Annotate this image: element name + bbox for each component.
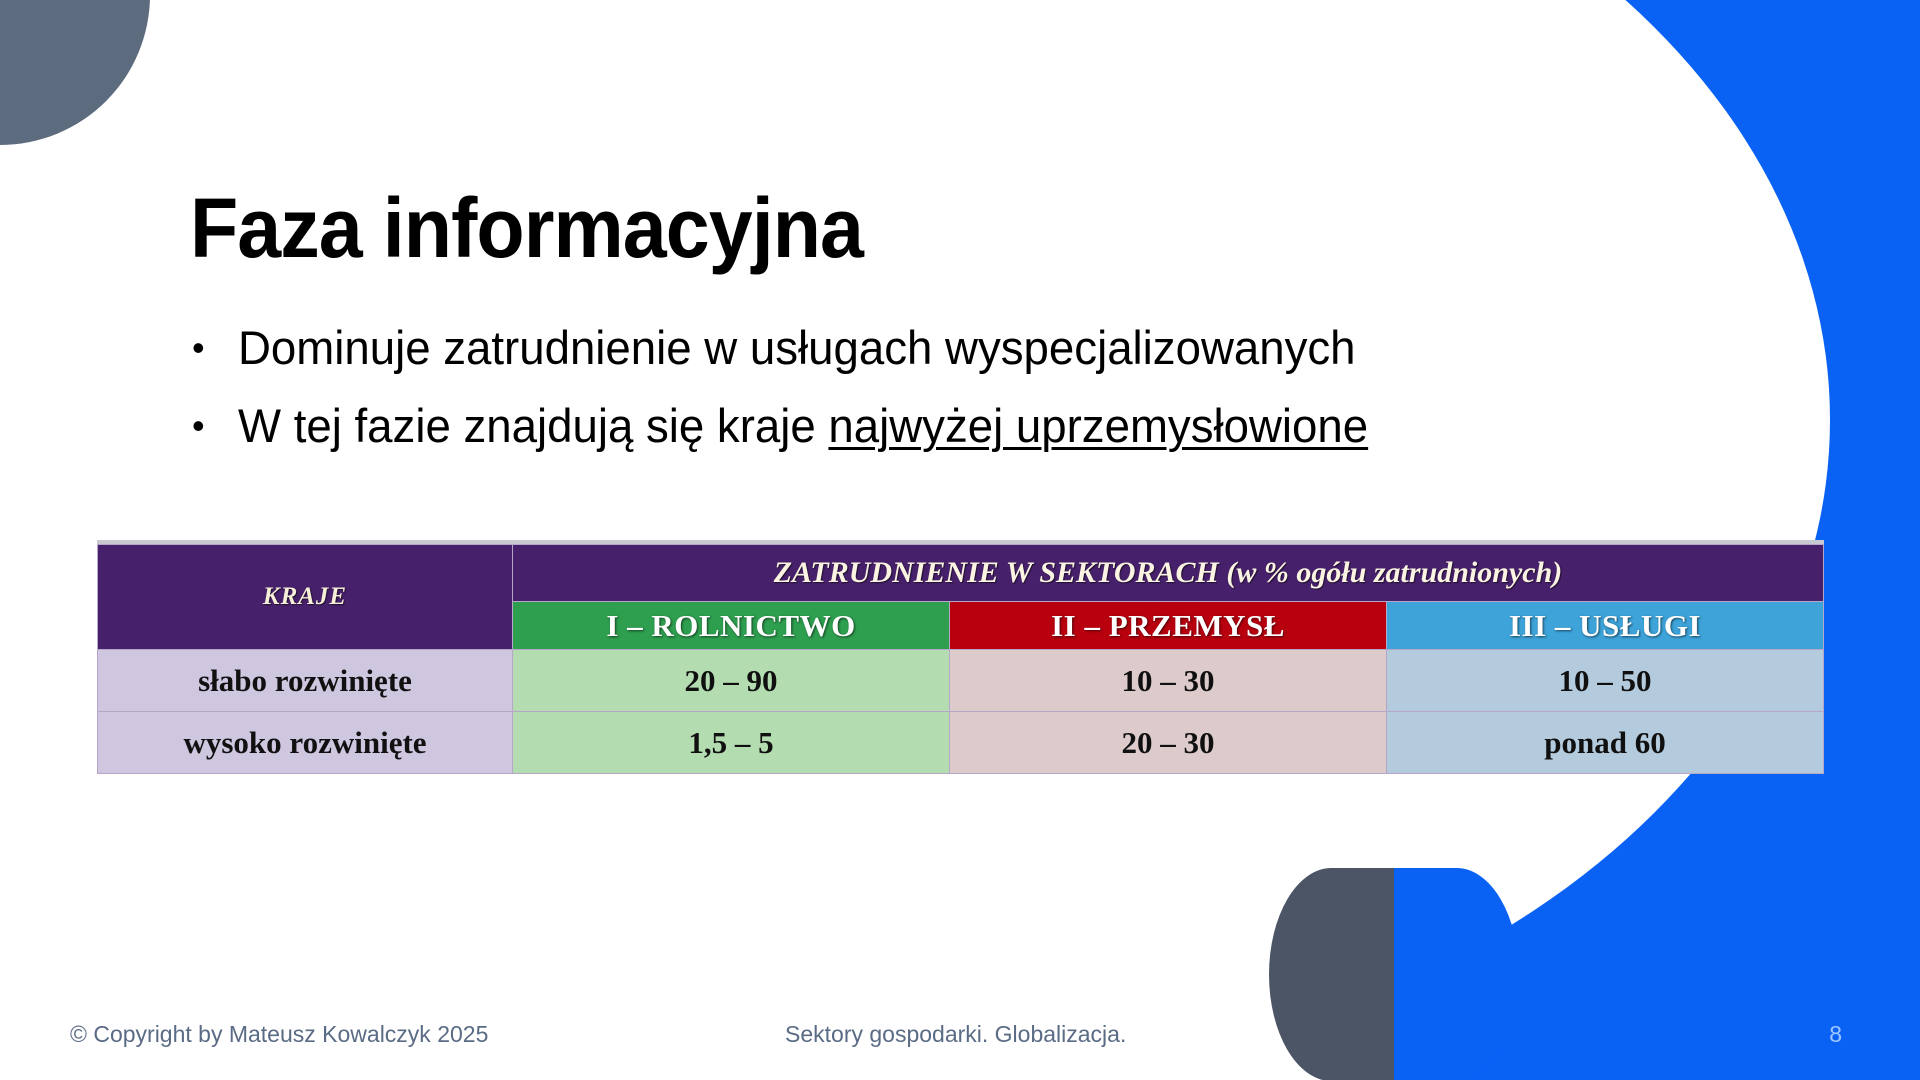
gray-corner-circle-icon <box>0 0 150 145</box>
cell-high-services: ponad 60 <box>1387 712 1824 774</box>
row-label-high-developed: wysoko rozwinięte <box>98 712 513 774</box>
bullet-marker-icon: • <box>190 318 238 378</box>
table-title: ZATRUDNIENIE W SEKTORACH (w % ogółu zatr… <box>513 545 1824 602</box>
column-header-agriculture: I – ROLNICTWO <box>513 602 950 650</box>
row-label-low-developed: słabo rozwinięte <box>98 650 513 712</box>
bullet-text-2: W tej fazie znajdują się kraje najwyżej … <box>238 396 1368 456</box>
table-row: wysoko rozwinięte 1,5 – 5 20 – 30 ponad … <box>98 712 1824 774</box>
footer-copyright: © Copyright by Mateusz Kowalczyk 2025 <box>70 1021 488 1048</box>
table-row-header-label: KRAJE <box>98 545 513 650</box>
bullet-list: • Dominuje zatrudnienie w usługach wyspe… <box>190 318 1690 474</box>
cell-low-industry: 10 – 30 <box>950 650 1387 712</box>
bullet-text-1: Dominuje zatrudnienie w usługach wyspecj… <box>238 318 1356 378</box>
table: KRAJE ZATRUDNIENIE W SEKTORACH (w % ogół… <box>97 544 1824 774</box>
table-header-row-top: KRAJE ZATRUDNIENIE W SEKTORACH (w % ogół… <box>98 545 1824 602</box>
bullet-text-1-plain: Dominuje zatrudnienie w usługach wyspecj… <box>238 321 1356 374</box>
employment-sectors-table: KRAJE ZATRUDNIENIE W SEKTORACH (w % ogół… <box>97 540 1824 774</box>
column-header-industry: II – PRZEMYSŁ <box>950 602 1387 650</box>
leaf-left-icon <box>1269 868 1394 1080</box>
slide-title: Faza informacyjna <box>190 184 863 272</box>
list-item: • W tej fazie znajdują się kraje najwyże… <box>190 396 1690 456</box>
cell-low-services: 10 – 50 <box>1387 650 1824 712</box>
leaf-right-icon <box>1394 868 1519 1080</box>
table-row: słabo rozwinięte 20 – 90 10 – 30 10 – 50 <box>98 650 1824 712</box>
cell-high-agriculture: 1,5 – 5 <box>513 712 950 774</box>
slide-canvas: Faza informacyjna • Dominuje zatrudnieni… <box>0 0 1920 1080</box>
bullet-text-2-plain: W tej fazie znajdują się kraje <box>238 399 828 452</box>
list-item: • Dominuje zatrudnienie w usługach wyspe… <box>190 318 1690 378</box>
leaf-logo-icon <box>1255 868 1555 1080</box>
cell-high-industry: 20 – 30 <box>950 712 1387 774</box>
column-header-services: III – USŁUGI <box>1387 602 1824 650</box>
bullet-text-2-underlined: najwyżej uprzemysłowione <box>828 399 1368 452</box>
cell-low-agriculture: 20 – 90 <box>513 650 950 712</box>
footer-subject: Sektory gospodarki. Globalizacja. <box>785 1021 1126 1048</box>
bullet-marker-icon: • <box>190 396 238 456</box>
page-number: 8 <box>1829 1021 1842 1048</box>
